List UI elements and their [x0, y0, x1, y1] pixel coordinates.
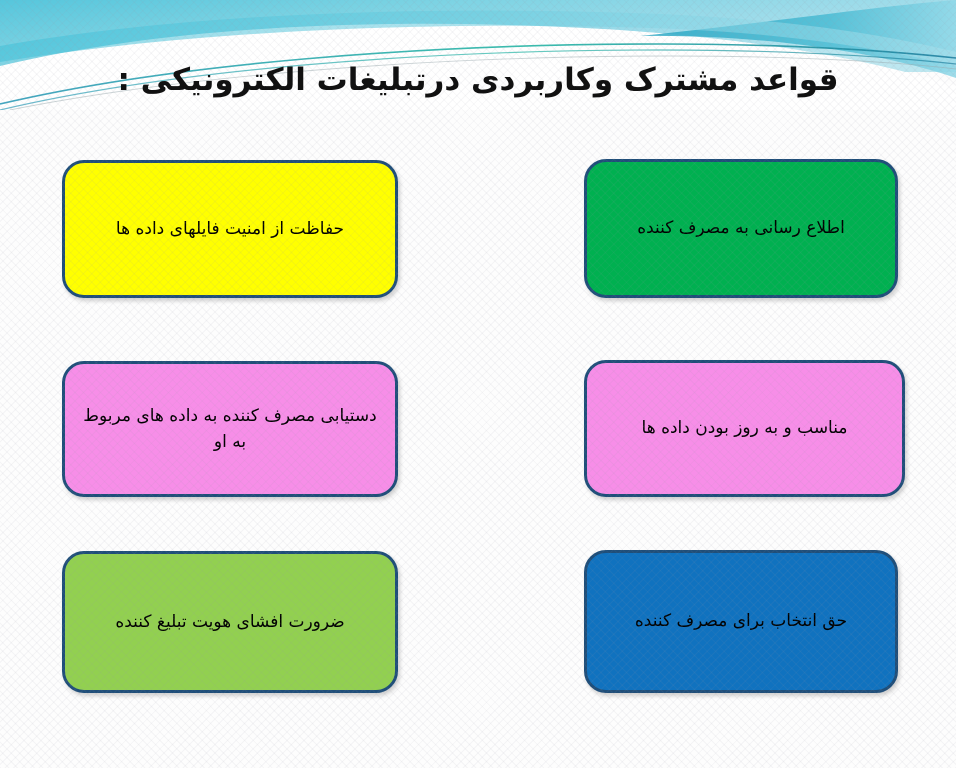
rule-box-label: حفاظت از امنیت فایلهای داده ها: [102, 216, 358, 242]
rule-box-consumer-data-access[interactable]: دستیابی مصرف کننده به داده های مربوط به …: [62, 361, 398, 497]
rule-box-label: اطلاع رسانی به مصرف کننده: [623, 215, 859, 241]
rule-box-label: حق انتخاب برای مصرف کننده: [621, 608, 861, 634]
rule-box-advertiser-identity[interactable]: ضرورت افشای هویت تبلیغ کننده: [62, 551, 398, 693]
page-title: قواعد مشترک وکاربردی درتبلیغات الکترونیک…: [0, 62, 956, 98]
presentation-slide: قواعد مشترک وکاربردی درتبلیغات الکترونیک…: [0, 0, 956, 768]
rule-box-label: دستیابی مصرف کننده به داده های مربوط به …: [65, 403, 395, 456]
rule-box-data-accuracy[interactable]: مناسب و به روز بودن داده ها: [584, 360, 905, 497]
rule-box-consumer-information[interactable]: اطلاع رسانی به مصرف کننده: [584, 159, 898, 298]
rule-box-label: ضرورت افشای هویت تبلیغ کننده: [101, 609, 358, 635]
rule-box-file-security[interactable]: حفاظت از امنیت فایلهای داده ها: [62, 160, 398, 298]
rule-box-label: مناسب و به روز بودن داده ها: [628, 415, 862, 441]
rule-box-consumer-choice[interactable]: حق انتخاب برای مصرف کننده: [584, 550, 898, 693]
